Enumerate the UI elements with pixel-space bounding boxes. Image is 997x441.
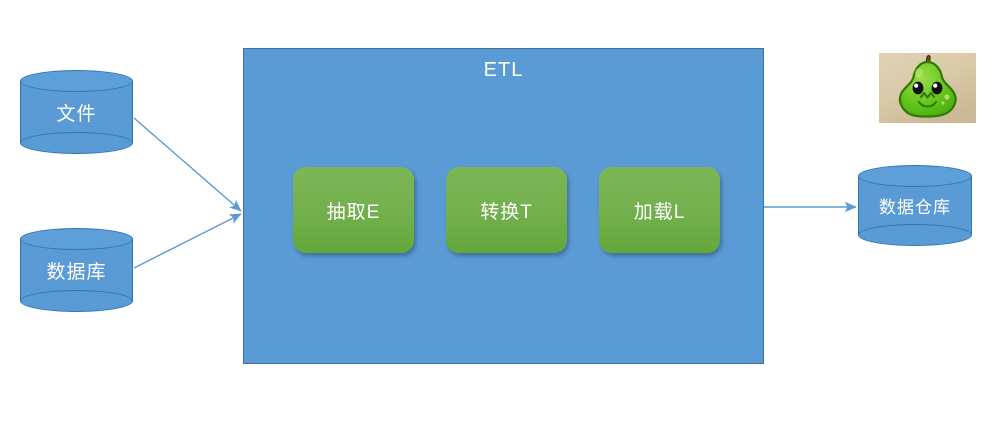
pear-eye-right [932, 82, 943, 95]
arrow-database-to-etl [134, 214, 241, 268]
pear-highlight [941, 101, 944, 104]
etl-container: ETL 抽取E 转换T 加载L [243, 48, 764, 364]
etl-title: ETL [244, 59, 763, 82]
target-cylinder-data-warehouse: 数据仓库 [858, 165, 972, 246]
pear-eye-left [913, 82, 924, 95]
stage-box-extract[interactable]: 抽取E [293, 167, 414, 253]
stage-label-transform: 转换T [480, 197, 533, 224]
source-cylinder-database: 数据库 [20, 228, 133, 312]
stage-box-transform[interactable]: 转换T [446, 167, 567, 253]
pear-highlight [944, 94, 949, 99]
pear-eye-glint [914, 84, 918, 88]
source-label-database: 数据库 [20, 228, 133, 312]
stage-label-extract: 抽取E [327, 197, 381, 224]
diagram-canvas: 文件 数据库 ETL 抽取E 转换T 加载L 数据仓库 [0, 0, 997, 441]
target-label-data-warehouse: 数据仓库 [858, 165, 972, 246]
stage-label-load: 加载L [634, 197, 686, 224]
source-label-file: 文件 [20, 70, 133, 154]
stage-box-load[interactable]: 加载L [599, 167, 720, 253]
arrow-file-to-etl [134, 118, 241, 211]
pear-eye-glint [933, 84, 937, 88]
source-cylinder-file: 文件 [20, 70, 133, 154]
pear-highlight [915, 68, 923, 78]
pear-mascot-svg [879, 53, 976, 123]
pear-mascot-icon [879, 53, 976, 123]
